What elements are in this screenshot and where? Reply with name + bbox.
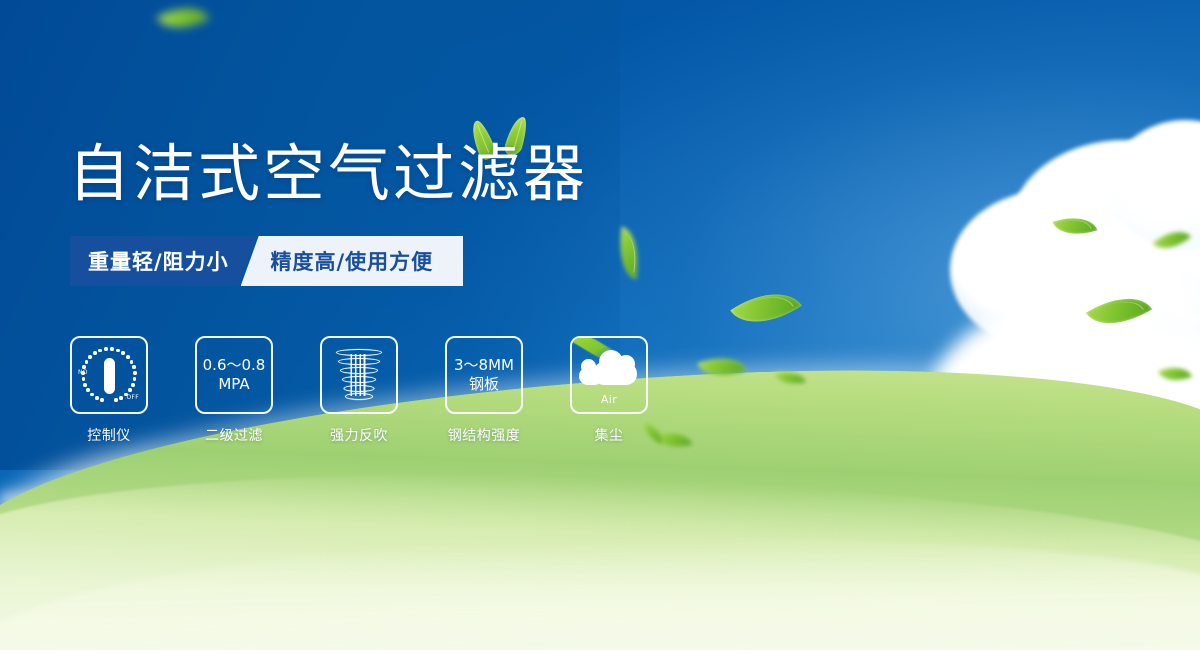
- dial-tick: [119, 396, 123, 400]
- dial-tick: [85, 360, 89, 364]
- dial-tick: [88, 355, 92, 359]
- subtitle-left: 重量轻/阻力小: [70, 236, 257, 286]
- dial-tick: [104, 347, 108, 351]
- dial-tick: [114, 398, 118, 402]
- feature-item-blowback[interactable]: 强力反吹: [320, 336, 398, 445]
- dial-tick: [132, 365, 136, 369]
- subtitle-right: 精度高/使用方便: [241, 236, 463, 286]
- coil-filter-icon: [336, 349, 382, 401]
- feature-label: 钢结构强度: [448, 425, 521, 445]
- feature-icon-box: 0.6〜0.8 MPA: [195, 336, 273, 414]
- feature-label: 集尘: [595, 425, 624, 445]
- subtitle-bar: 重量轻/阻力小 精度高/使用方便: [70, 236, 463, 286]
- feature-icon-box: [320, 336, 398, 414]
- dial-tick: [131, 383, 135, 387]
- dial-tick: [100, 398, 104, 402]
- product-banner: 自洁式空气过滤器 重量轻/阻力小 精度高/使用方便 NO OFF 控制仪: [0, 0, 1200, 650]
- dial-tick: [116, 349, 120, 353]
- dial-tick: [86, 388, 90, 392]
- dial-tick: [110, 347, 114, 351]
- feature-list: NO OFF 控制仪 0.6〜0.8 MPA 二级过滤: [70, 336, 648, 445]
- feature-icon-box: NO OFF: [70, 336, 148, 414]
- feature-label: 强力反吹: [330, 425, 388, 445]
- dial-tick: [128, 388, 132, 392]
- dial-tick: [81, 371, 85, 375]
- dial-tick: [82, 377, 86, 381]
- dial-tick: [133, 371, 137, 375]
- feature-item-control[interactable]: NO OFF 控制仪: [70, 336, 148, 445]
- banner-content: 自洁式空气过滤器 重量轻/阻力小 精度高/使用方便 NO OFF 控制仪: [0, 0, 1200, 650]
- feature-item-filter[interactable]: 0.6〜0.8 MPA 二级过滤: [195, 336, 273, 445]
- dial-tick: [95, 396, 99, 400]
- air-label: Air: [577, 393, 641, 406]
- dial-tick: [90, 393, 94, 397]
- feature-icon-box: Air: [570, 336, 648, 414]
- feature-item-steel[interactable]: 3〜8MM 钢板 钢结构强度: [445, 336, 523, 445]
- steel-plate-text-icon: 3〜8MM 钢板: [454, 356, 514, 394]
- dial-off-label: OFF: [126, 394, 139, 401]
- feature-label: 二级过滤: [205, 425, 263, 445]
- dial-tick: [98, 349, 102, 353]
- page-title: 自洁式空气过滤器: [68, 143, 588, 205]
- air-cloud-icon: Air: [577, 347, 641, 403]
- steel-material: 钢板: [454, 375, 514, 394]
- feature-label: 控制仪: [87, 425, 131, 445]
- dial-tick: [133, 377, 137, 381]
- dial-tick: [82, 365, 86, 369]
- pressure-range: 0.6〜0.8: [203, 356, 266, 375]
- dial-tick: [93, 351, 97, 355]
- dial-tick: [130, 360, 134, 364]
- pressure-unit: MPA: [203, 375, 266, 394]
- pressure-text-icon: 0.6〜0.8 MPA: [203, 356, 266, 394]
- dial-tick: [121, 351, 125, 355]
- feature-icon-box: 3〜8MM 钢板: [445, 336, 523, 414]
- dial-gauge-icon: NO OFF: [78, 344, 140, 406]
- dial-tick: [83, 383, 87, 387]
- feature-item-dust[interactable]: Air 集尘: [570, 336, 648, 445]
- steel-thickness: 3〜8MM: [454, 356, 514, 375]
- dial-tick: [126, 355, 130, 359]
